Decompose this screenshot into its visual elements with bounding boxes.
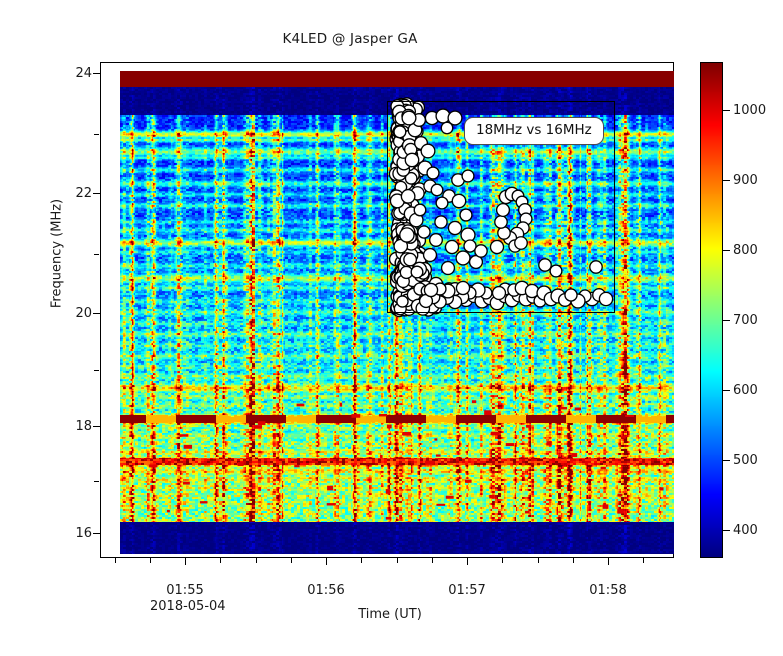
x-tick-minor	[150, 558, 151, 563]
figure-root: K4LED @ Jasper GA 18MHz vs 16MHz Frequen…	[0, 0, 783, 656]
colorbar-label-900: 900	[733, 173, 758, 188]
y-tick-label-24: 24	[46, 66, 92, 81]
annotation-label: 18MHz vs 16MHz	[464, 117, 604, 145]
colorbar	[700, 62, 723, 558]
y-tick-label-18: 18	[46, 419, 92, 434]
x-tick-minor	[115, 558, 116, 563]
y-axis-label: Frequency (MHz)	[50, 154, 65, 354]
x-tick-minor	[502, 558, 503, 563]
colorbar-label-1000: 1000	[733, 103, 766, 118]
y-tick-label-16: 16	[46, 526, 92, 541]
y-tick-label-20: 20	[46, 306, 92, 321]
colorbar-tick-major	[723, 320, 730, 321]
y-tick-minor	[94, 481, 99, 482]
y-tick-major	[93, 426, 100, 427]
x-tick-minor	[291, 558, 292, 563]
x-tick-label-0155: 01:55	[150, 583, 220, 598]
colorbar-label-600: 600	[733, 383, 758, 398]
colorbar-tick-major	[723, 180, 730, 181]
page-title: K4LED @ Jasper GA	[0, 31, 700, 47]
x-tick-minor	[256, 558, 257, 563]
x-tick-minor	[643, 558, 644, 563]
colorbar-tick-major	[723, 250, 730, 251]
x-tick-minor	[361, 558, 362, 563]
colorbar-label-800: 800	[733, 243, 758, 258]
x-tick-minor	[397, 558, 398, 563]
x-tick-major	[185, 558, 186, 565]
colorbar-tick-major	[723, 390, 730, 391]
colorbar-label-400: 400	[733, 523, 758, 538]
x-tick-minor	[432, 558, 433, 563]
colorbar-tick-major	[723, 460, 730, 461]
y-tick-major	[93, 533, 100, 534]
y-tick-label-22: 22	[46, 186, 92, 201]
x-tick-minor	[538, 558, 539, 563]
x-tick-label-0156: 01:56	[291, 583, 361, 598]
colorbar-gradient	[701, 63, 722, 557]
y-tick-minor	[94, 134, 99, 135]
x-tick-major	[467, 558, 468, 565]
y-tick-minor	[94, 254, 99, 255]
y-tick-major	[93, 73, 100, 74]
x-axis-label: Time (UT)	[240, 607, 540, 622]
x-tick-major	[326, 558, 327, 565]
x-tick-major	[608, 558, 609, 565]
x-tick-label-0157: 01:57	[432, 583, 502, 598]
x-tick-minor	[573, 558, 574, 563]
y-tick-minor	[94, 370, 99, 371]
x-axis-date-label: 2018-05-04	[150, 599, 250, 614]
x-tick-label-0158: 01:58	[573, 583, 643, 598]
y-tick-major	[93, 193, 100, 194]
colorbar-tick-major	[723, 110, 730, 111]
colorbar-label-500: 500	[733, 453, 758, 468]
colorbar-tick-major	[723, 530, 730, 531]
y-tick-major	[93, 313, 100, 314]
x-tick-minor	[220, 558, 221, 563]
colorbar-label-700: 700	[733, 313, 758, 328]
